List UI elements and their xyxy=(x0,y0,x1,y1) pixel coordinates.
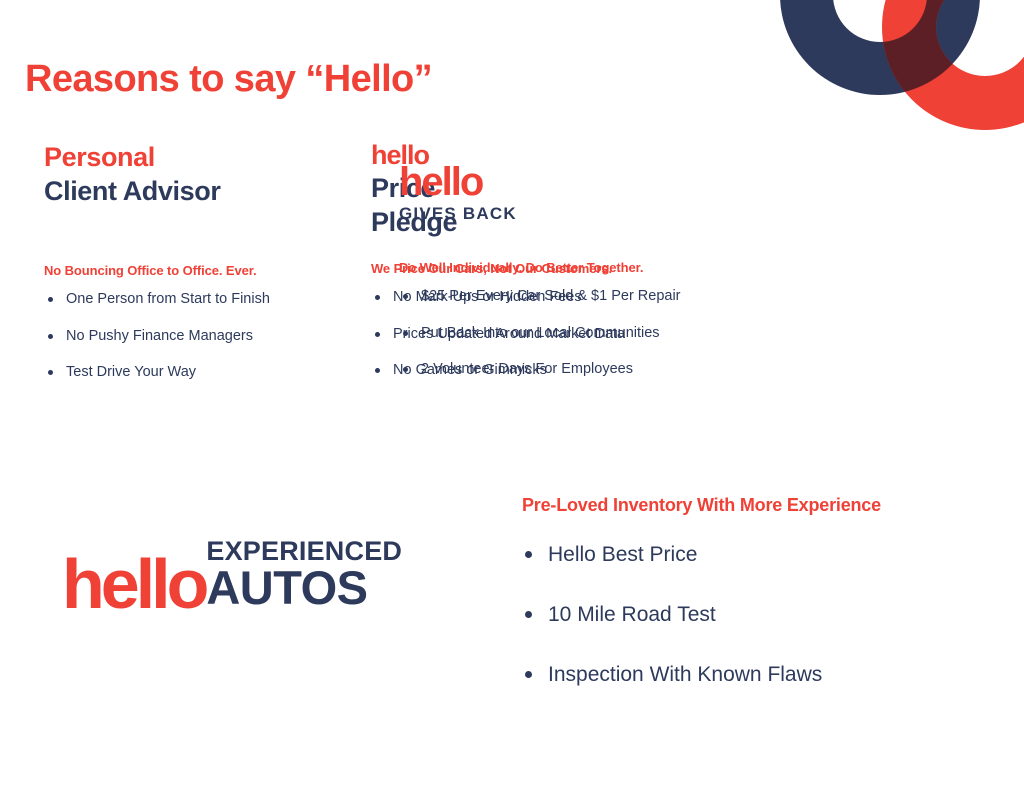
column-heading: hello GIVES BACK xyxy=(399,162,719,224)
list-item: No Games or Gimmicks xyxy=(371,363,393,378)
column-subheading: Do Well Individually. Do Better Together… xyxy=(399,260,719,275)
feature-columns: Personal Client Advisor No Bouncing Offi… xyxy=(0,140,1024,402)
list-item: 2 Volunteer Days For Employees xyxy=(399,362,719,377)
hello-logotype-subtitle: GIVES BACK xyxy=(399,204,719,224)
list-item: No Mark-Ups or Hidden Fees xyxy=(371,290,393,305)
hello-logotype: hello xyxy=(399,162,719,202)
list-item: Hello Best Price xyxy=(522,544,1022,565)
column-bullet-list: $25 Per Every Car Sold & $1 Per Repair P… xyxy=(399,289,719,377)
logo-word-autos: AUTOS xyxy=(206,566,367,609)
bottom-content: Pre-Loved Inventory With More Experience… xyxy=(522,495,1022,724)
list-item: $25 Per Every Car Sold & $1 Per Repair xyxy=(399,289,719,304)
red-ring xyxy=(760,0,1024,130)
decorative-rings xyxy=(760,0,1024,130)
bottom-bullet-list: Hello Best Price 10 Mile Road Test Inspe… xyxy=(522,544,1022,685)
list-item: 10 Mile Road Test xyxy=(522,604,1022,625)
hello-logotype: hello xyxy=(62,557,205,612)
navy-ring xyxy=(760,0,1024,130)
ring-overlap xyxy=(760,0,1024,130)
bottom-subheading: Pre-Loved Inventory With More Experience xyxy=(522,495,1022,516)
list-item: Inspection With Known Flaws xyxy=(522,664,1022,685)
hello-experienced-autos-logo: hello EXPERIENCED AUTOS xyxy=(62,538,402,611)
list-item: Prices Updated Around Market Data xyxy=(371,327,393,342)
column-hello-price-pledge: hello Price Pledge We Price Our Cars, No… xyxy=(0,140,371,400)
list-item: Put Back Into our Local Communities xyxy=(399,326,719,341)
logo-text-stack: EXPERIENCED AUTOS xyxy=(206,538,402,611)
page-title: Reasons to say “Hello” xyxy=(25,58,432,101)
column-hello-gives-back: hello GIVES BACK Do Well Individually. D… xyxy=(399,140,719,399)
